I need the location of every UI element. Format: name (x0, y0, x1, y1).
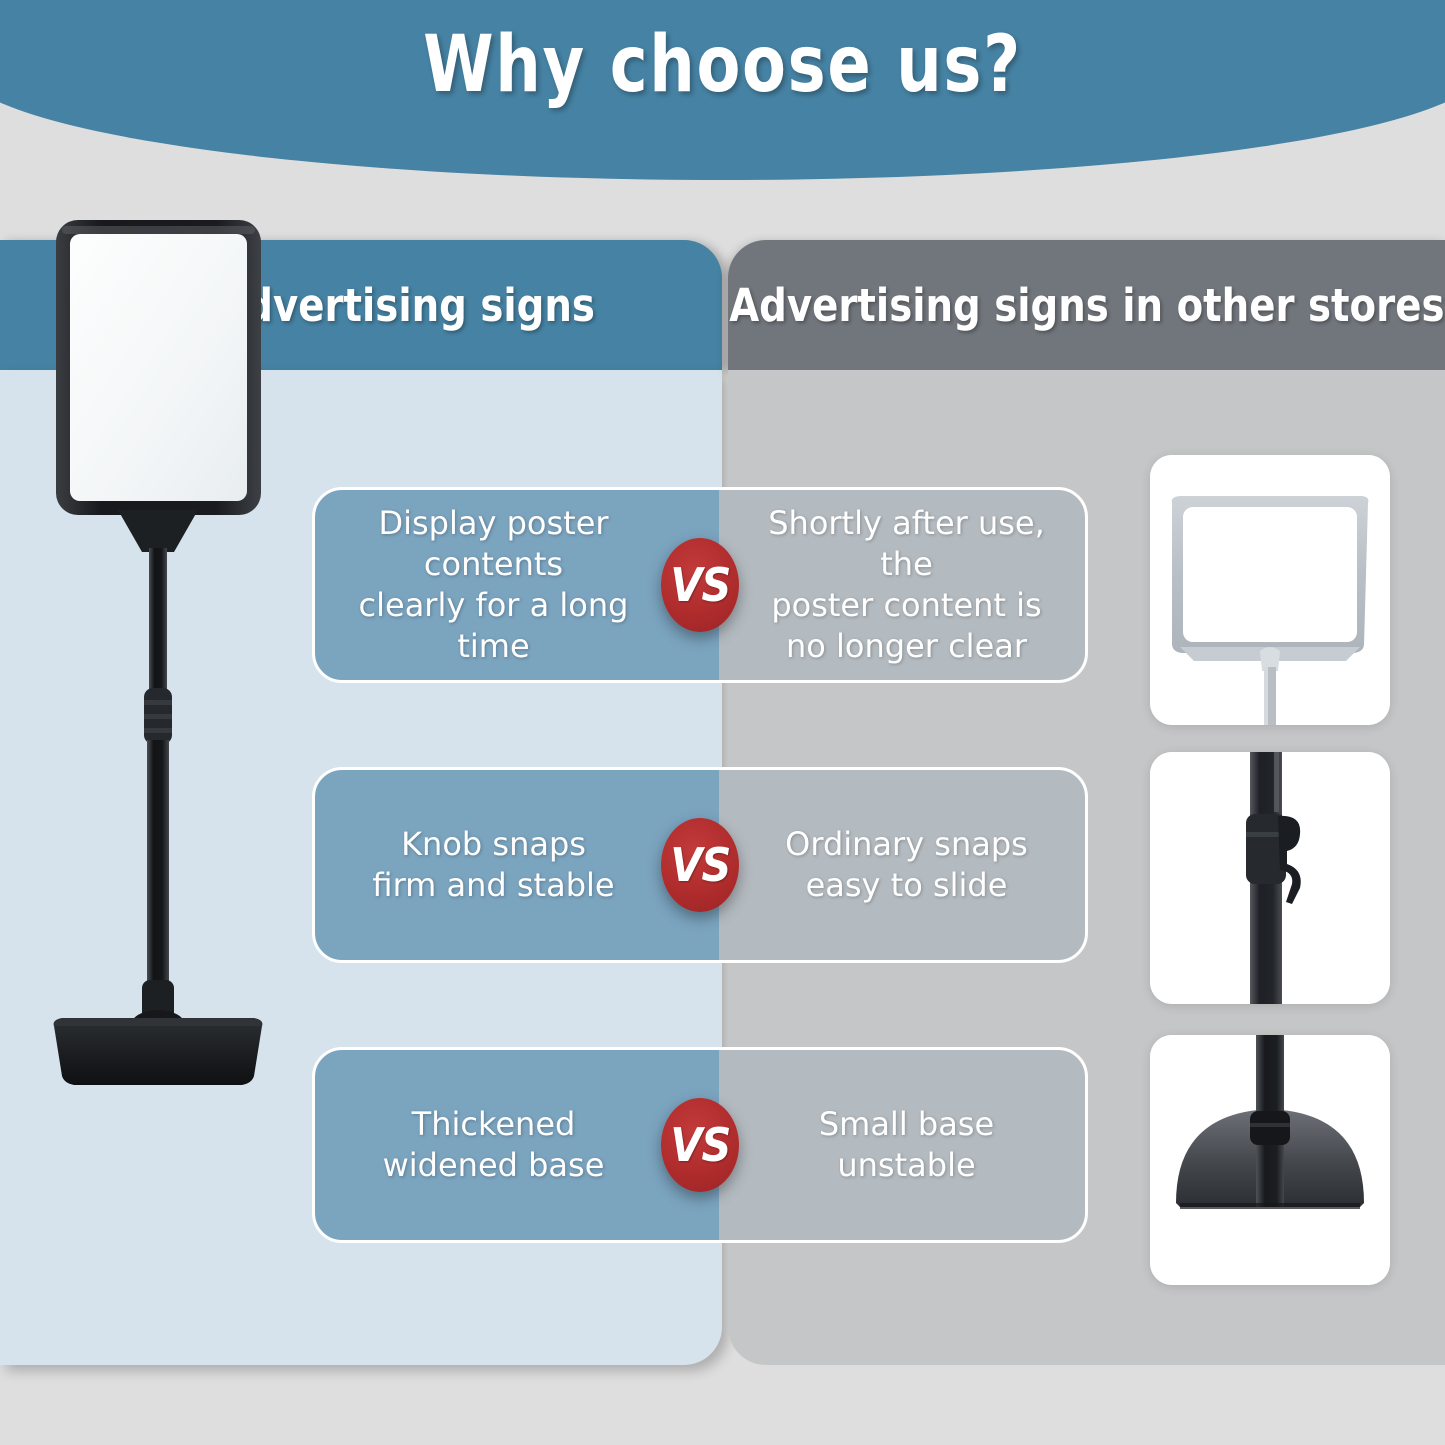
comparison-left-text: Display poster contents clearly for a lo… (315, 503, 700, 667)
header-banner: Why choose us? (0, 0, 1445, 180)
vs-badge: VS (661, 538, 739, 632)
comparison-right-text: Shortly after use, the poster content is… (700, 503, 1085, 667)
comparison-left-text: Thickened widened base (315, 1104, 700, 1186)
comparison-row: Display poster contents clearly for a lo… (312, 487, 1088, 683)
vs-badge: VS (661, 818, 739, 912)
page-title: Why choose us? (97, 20, 1348, 110)
vs-label: VS (670, 1118, 730, 1172)
photo-card-lever-clamp (1150, 752, 1390, 1004)
white-poster-frame-icon (1150, 455, 1390, 725)
comparison-right-text: Ordinary snaps easy to slide (700, 824, 1085, 906)
comparison-right-text: Small base unstable (700, 1104, 1085, 1186)
comparison-row: Knob snaps firm and stable VS Ordinary s… (312, 767, 1088, 963)
vs-label: VS (670, 558, 730, 612)
vs-label: VS (670, 838, 730, 892)
photo-card-small-base (1150, 1035, 1390, 1285)
comparison-left-text: Knob snaps firm and stable (315, 824, 700, 906)
photo-card-white-frame (1150, 455, 1390, 725)
panel-right-header-label: Advertising signs in other stores (729, 279, 1444, 332)
vs-badge: VS (661, 1098, 739, 1192)
product-image-our-stand (18, 180, 298, 1300)
lever-clamp-icon (1150, 752, 1390, 1004)
comparison-row: Thickened widened base VS Small base uns… (312, 1047, 1088, 1243)
infographic-page: Why choose us? Our advertising signs Adv… (0, 0, 1445, 1445)
panel-right-header: Advertising signs in other stores (728, 240, 1445, 370)
poster-stand-icon (18, 180, 298, 1300)
small-base-icon (1150, 1035, 1390, 1285)
